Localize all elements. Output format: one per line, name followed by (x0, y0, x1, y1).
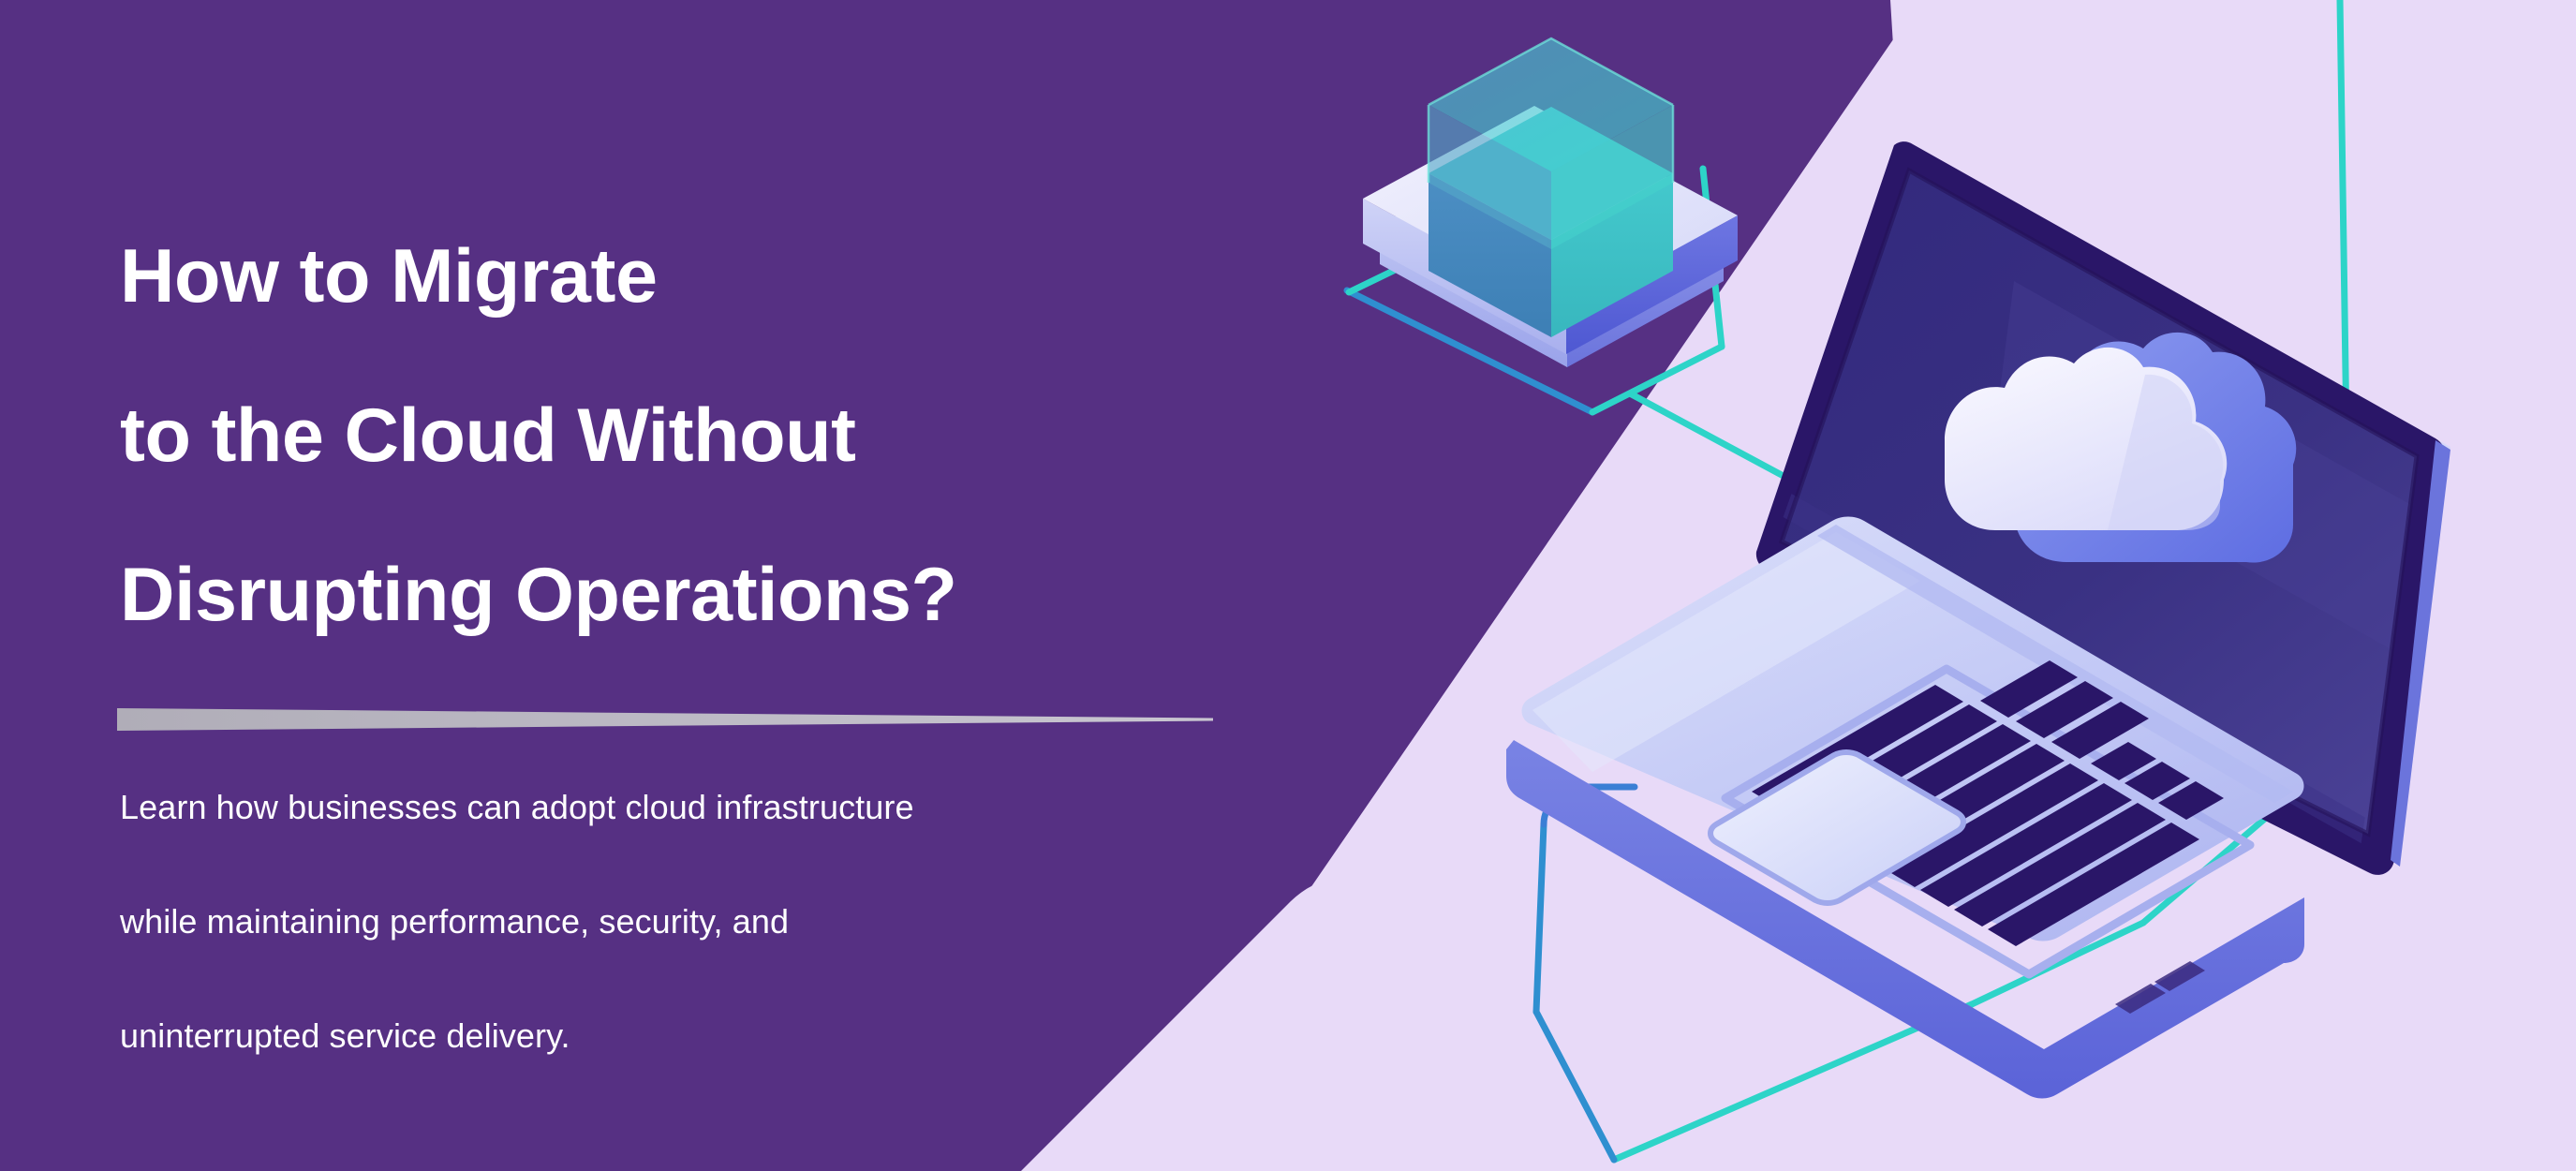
subtitle-line-1: Learn how businesses can adopt cloud inf… (120, 768, 1300, 847)
banner-copy: How to Migrate to the Cloud Without Disr… (120, 197, 1300, 1075)
subtitle-line-3: uninterrupted service delivery. (120, 997, 1300, 1075)
subtitle-line-2: while maintaining performance, security,… (120, 882, 1300, 961)
headline-line-2: to the Cloud Without (120, 356, 1300, 515)
divider-wedge (117, 708, 1213, 733)
headline-line-3: Disrupting Operations? (120, 515, 1300, 674)
headline-line-1: How to Migrate (120, 197, 1300, 356)
divider (117, 708, 1213, 733)
cloud-migration-banner: How to Migrate to the Cloud Without Disr… (0, 0, 2576, 1171)
